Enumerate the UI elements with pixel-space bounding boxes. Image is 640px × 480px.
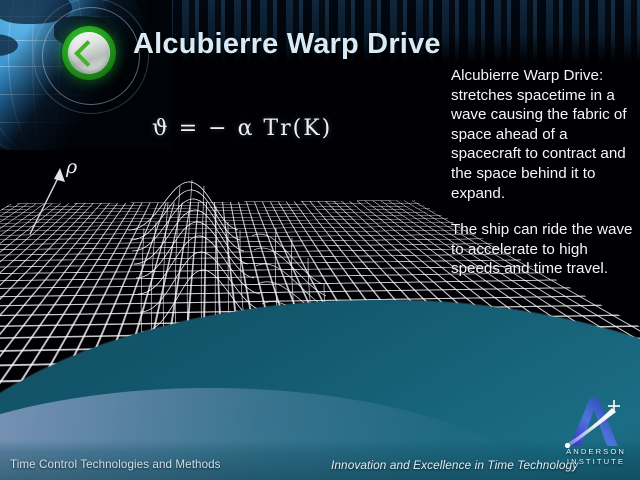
slide-canvas: Alcubierre Warp Drive ϑ = − α Tr(K) — [0, 0, 640, 480]
footer-left-text: Time Control Technologies and Methods — [10, 458, 221, 471]
logo-name-line-1: ANDERSON — [556, 447, 636, 456]
rho-axis-label: ρ — [66, 156, 77, 178]
anderson-institute-logo[interactable]: ANDERSON INSTITUTE — [556, 396, 636, 470]
back-button[interactable] — [62, 26, 116, 80]
page-title: Alcubierre Warp Drive — [133, 28, 441, 61]
logo-name-line-2: INSTITUTE — [556, 457, 636, 466]
description-text: Alcubierre Warp Drive: stretches spaceti… — [451, 66, 637, 279]
back-button-face — [68, 32, 110, 74]
paragraph-1: Alcubierre Warp Drive: stretches spaceti… — [451, 66, 637, 203]
warp-equation: ϑ = − α Tr(K) — [152, 116, 332, 141]
paragraph-2: The ship can ride the wave to accelerate… — [451, 220, 637, 279]
chevron-left-icon — [74, 40, 101, 67]
footer-center-text: Innovation and Excellence in Time Techno… — [331, 458, 578, 472]
logo-a-mark-icon — [564, 396, 628, 448]
